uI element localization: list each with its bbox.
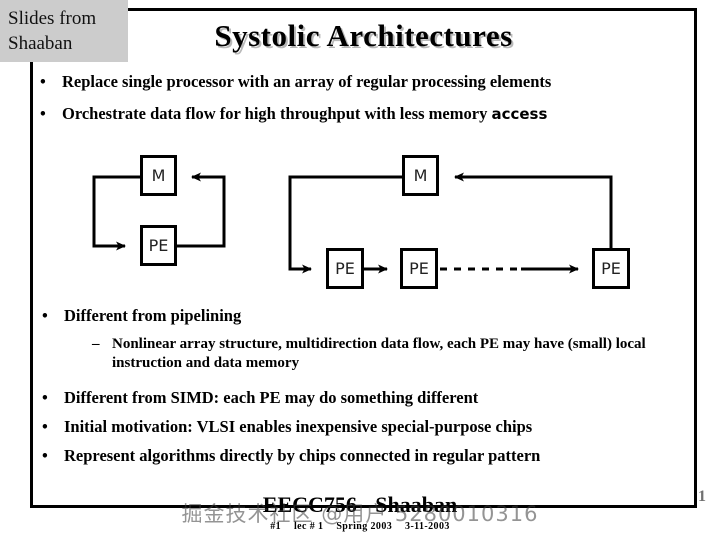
bullet-text: Nonlinear array structure, multidirectio… [112,335,652,373]
node-label: PE [335,259,355,278]
bullet-item-replace-processor: • Replace single processor with an array… [40,72,551,92]
diagram-left-node-pe: PE [140,225,177,266]
diagram-right-node-pe-3: PE [592,248,630,289]
slides-from-line1: Slides from [8,6,128,31]
bullet-item-different-from-simd: • Different from SIMD: each PE may do so… [42,388,478,408]
node-label: PE [601,259,621,278]
node-label: PE [409,259,429,278]
bullet-marker-icon: • [42,306,64,326]
bullet-marker-icon: • [42,446,64,466]
diagram-right-node-m: M [402,155,439,196]
bullet-text-accent: access [491,105,547,123]
bullet-text: Different from pipelining [64,306,241,326]
node-label: PE [149,236,169,255]
bullet-marker-icon: • [42,417,64,437]
bullet-item-orchestrate-dataflow: • Orchestrate data flow for high through… [40,104,547,124]
bullet-text: Replace single processor with an array o… [62,72,551,92]
node-label: M [414,166,428,185]
bullet-marker-icon: • [42,388,64,408]
slides-from-line2: Shaaban [8,31,128,56]
node-label: M [152,166,166,185]
diagram-left-node-m: M [140,155,177,196]
diagram-right-node-pe-1: PE [326,248,364,289]
bullet-item-represent-algorithms: • Represent algorithms directly by chips… [42,446,540,466]
bullet-marker-icon: – [92,335,112,354]
watermark-text: 掘金技术社区 @用户 5280010316 [0,498,720,528]
bullet-text: Orchestrate data flow for high throughpu… [62,104,547,124]
bullet-item-initial-motivation: • Initial motivation: VLSI enables inexp… [42,417,532,437]
bullet-text: Represent algorithms directly by chips c… [64,446,540,466]
bullet-item-nonlinear-array-structure: – Nonlinear array structure, multidirect… [92,335,652,373]
bullet-text-main: Orchestrate data flow for high throughpu… [62,104,491,123]
page-title: Systolic Architectures [30,18,697,54]
bullet-marker-icon: • [40,104,62,124]
bullet-marker-icon: • [40,72,62,92]
slides-from-attribution-box: Slides from Shaaban [0,0,128,62]
bullet-item-different-from-pipelining: • Different from pipelining [42,306,241,326]
bullet-text: Initial motivation: VLSI enables inexpen… [64,417,532,437]
bullet-text: Different from SIMD: each PE may do some… [64,388,478,408]
diagram-right-node-pe-2: PE [400,248,438,289]
